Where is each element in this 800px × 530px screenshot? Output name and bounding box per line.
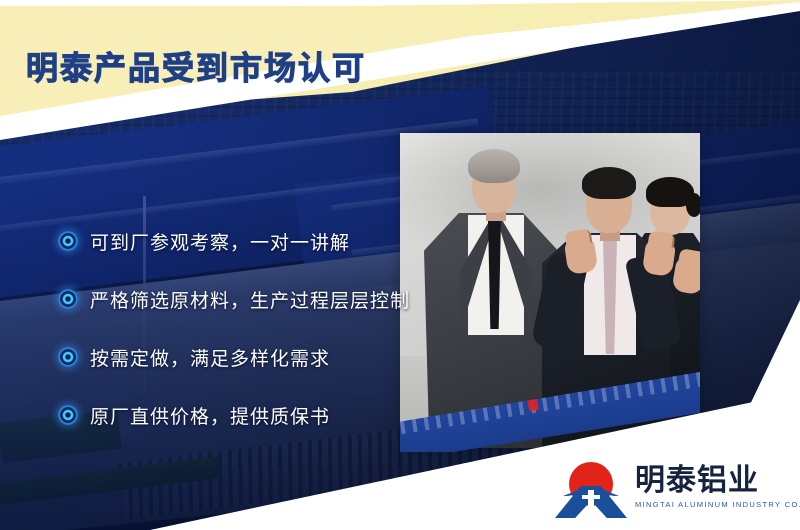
target-circle-icon: [58, 289, 78, 309]
feature-text: 原厂直供价格，提供质保书: [90, 402, 330, 429]
person-left-hair: [468, 149, 520, 183]
list-item: 严格筛选原材料，生产过程层层控制: [58, 270, 410, 328]
target-circle-icon: [58, 405, 78, 425]
person-right-hair-bun: [686, 193, 700, 217]
feature-list: 可到厂参观考察，一对一讲解 严格筛选原材料，生产过程层层控制 按需定做，满足多样…: [58, 212, 410, 444]
list-item: 可到厂参观考察，一对一讲解: [58, 212, 410, 270]
company-name-cn: 明泰铝业: [635, 464, 800, 498]
person-center-hand-left: [564, 237, 598, 275]
target-circle-icon: [58, 347, 78, 367]
target-circle-icon: [58, 231, 78, 251]
logo-text-block: 明泰铝业 MINGTAI ALUMINUM INDUSTRY CO., LTD: [635, 462, 800, 509]
feature-text: 按需定做，满足多样化需求: [90, 344, 330, 371]
promo-banner: 明泰产品受到市场认可 可到厂参观考察，一对一讲解 严格筛选原材料，生产过程层层控…: [0, 0, 800, 530]
mingtai-sun-mountain-icon: [555, 462, 627, 518]
logo-cross-shape: [588, 490, 594, 514]
page-title: 明泰产品受到市场认可: [26, 43, 366, 89]
feature-text: 可到厂参观考察，一对一讲解: [90, 228, 350, 255]
list-item: 原厂直供价格，提供质保书: [58, 386, 410, 444]
feature-text: 严格筛选原材料，生产过程层层控制: [90, 286, 410, 313]
company-logo: 明泰铝业 MINGTAI ALUMINUM INDUSTRY CO., LTD: [555, 462, 800, 518]
list-item: 按需定做，满足多样化需求: [58, 328, 410, 386]
person-center-hair: [582, 167, 636, 199]
company-name-en: MINGTAI ALUMINUM INDUSTRY CO., LTD: [635, 500, 800, 509]
